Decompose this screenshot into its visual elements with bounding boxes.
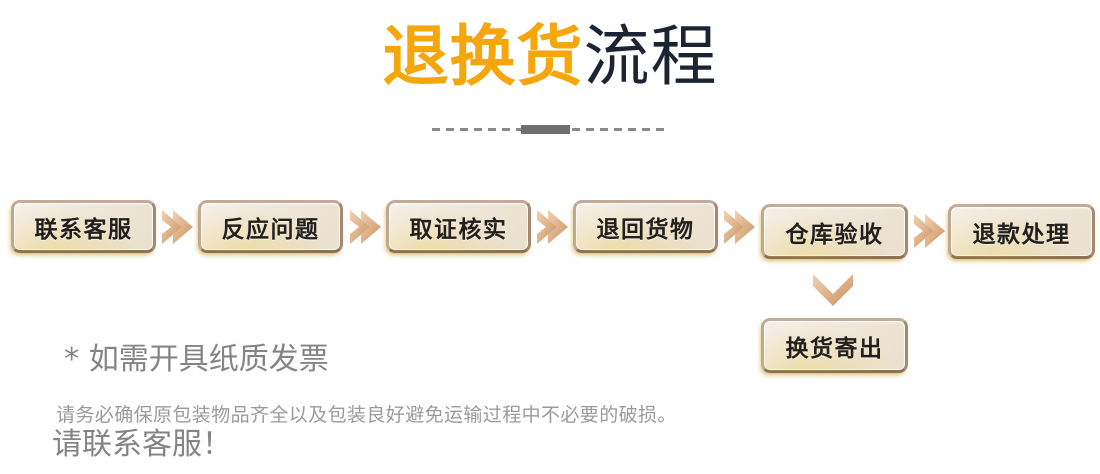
title-text: 退换货流程 xyxy=(0,24,1100,90)
flow-branch-label: 换货寄出 xyxy=(786,329,884,363)
flow-arrow-3-icon xyxy=(535,207,569,247)
flow-step-5-label: 仓库验收 xyxy=(786,215,884,249)
flowchart-page: 退换货流程 联系客服 反应问题 xyxy=(0,0,1100,474)
invoice-note: * 如需开具纸质发票 请联系客服！ xyxy=(26,296,329,474)
flow-step-4-label: 退回货物 xyxy=(597,210,695,244)
flow-arrow-4-icon xyxy=(722,207,756,247)
title-rest-text: 流程 xyxy=(584,18,718,95)
flow-step-3[interactable]: 取证核实 xyxy=(386,200,531,253)
flow-step-2-label: 反应问题 xyxy=(222,210,320,244)
flow-step-4[interactable]: 退回货物 xyxy=(573,200,718,253)
flow-arrow-5-icon xyxy=(912,211,946,251)
invoice-note-line-1: * 如需开具纸质发票 xyxy=(64,342,329,377)
page-title: 退换货流程 xyxy=(0,24,1100,90)
section-divider xyxy=(0,124,1100,136)
flow-arrow-2-icon xyxy=(348,207,382,247)
packaging-footnote: 请务必确保原包装物品齐全以及包装良好避免运输过程中不必要的破损。 xyxy=(56,400,677,427)
flow-step-3-label: 取证核实 xyxy=(410,210,508,244)
flow-arrow-1-icon xyxy=(160,207,194,247)
divider-center-block xyxy=(521,125,570,134)
flow-arrow-down-icon xyxy=(810,272,856,310)
flow-step-1-label: 联系客服 xyxy=(35,210,133,244)
flow-branch-box[interactable]: 换货寄出 xyxy=(761,318,908,373)
process-flow-row: 联系客服 反应问题 xyxy=(0,198,1100,260)
flow-step-2[interactable]: 反应问题 xyxy=(198,200,343,253)
invoice-note-line-2: 请联系客服！ xyxy=(26,424,329,467)
flow-step-5[interactable]: 仓库验收 xyxy=(761,204,908,259)
title-accent-text: 退换货 xyxy=(383,18,584,95)
flow-step-6[interactable]: 退款处理 xyxy=(948,204,1095,259)
flow-step-1[interactable]: 联系客服 xyxy=(11,200,156,253)
flow-step-6-label: 退款处理 xyxy=(973,215,1071,249)
